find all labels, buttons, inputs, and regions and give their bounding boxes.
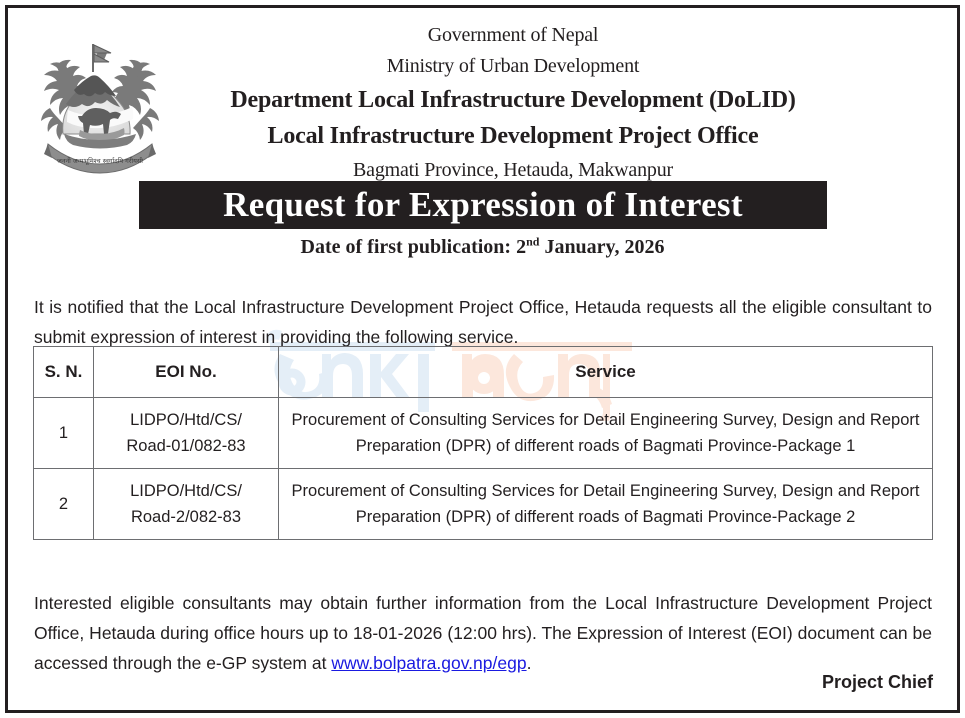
table-row: 2 LIDPO/Htd/CS/ Road-2/082-83 Procuremen…: [34, 469, 933, 540]
document-page: जननी जन्मभूमिश्च स्वर्गादपि गरीयसी Gover…: [0, 0, 965, 718]
cell-eoi-no-line1: LIDPO/Htd/CS/: [100, 407, 272, 433]
column-header-service: Service: [279, 347, 933, 398]
cell-sn: 1: [34, 398, 94, 469]
publication-date-label: Date of first publication:: [301, 236, 512, 258]
publication-date-ordinal: nd: [526, 234, 539, 248]
header-line-government: Government of Nepal: [158, 20, 868, 50]
column-header-eoi-no: EOI No.: [94, 347, 279, 398]
header-line-office: Local Infrastructure Development Project…: [158, 118, 868, 154]
publication-date-day: 2: [516, 236, 526, 258]
closing-paragraph-period: .: [527, 653, 532, 673]
cell-eoi-no-line1: LIDPO/Htd/CS/: [100, 478, 272, 504]
signatory-title: Project Chief: [822, 672, 933, 693]
document-content: जननी जन्मभूमिश्च स्वर्गादपि गरीयसी Gover…: [8, 8, 957, 710]
cell-service: Procurement of Consulting Services for D…: [279, 469, 933, 540]
publication-date-month-year: January, 2026: [544, 236, 664, 258]
header-line-ministry: Ministry of Urban Development: [158, 50, 868, 82]
eoi-table: S. N. EOI No. Service 1 LIDPO/Htd/CS/ Ro…: [33, 346, 933, 540]
closing-paragraph: Interested eligible consultants may obta…: [34, 588, 932, 678]
cell-eoi-no: LIDPO/Htd/CS/ Road-2/082-83: [94, 469, 279, 540]
nepal-emblem-icon: जननी जन्मभूमिश्च स्वर्गादपि गरीयसी: [30, 34, 170, 179]
table-row: 1 LIDPO/Htd/CS/ Road-01/082-83 Procureme…: [34, 398, 933, 469]
cell-eoi-no-line2: Road-2/082-83: [100, 504, 272, 530]
svg-text:जननी जन्मभूमिश्च स्वर्गादपि गर: जननी जन्मभूमिश्च स्वर्गादपि गरीयसी: [57, 157, 143, 165]
letterhead: Government of Nepal Ministry of Urban De…: [158, 20, 868, 187]
publication-date: Date of first publication: 2nd January, …: [8, 236, 957, 259]
cell-service: Procurement of Consulting Services for D…: [279, 398, 933, 469]
title-banner: Request for Expression of Interest: [139, 181, 827, 229]
table-header-row: S. N. EOI No. Service: [34, 347, 933, 398]
cell-sn: 2: [34, 469, 94, 540]
page-title: Request for Expression of Interest: [223, 185, 743, 225]
intro-paragraph: It is notified that the Local Infrastruc…: [34, 292, 932, 352]
header-line-department: Department Local Infrastructure Developm…: [158, 82, 868, 118]
egp-portal-link[interactable]: www.bolpatra.gov.np/egp: [331, 653, 526, 673]
cell-eoi-no: LIDPO/Htd/CS/ Road-01/082-83: [94, 398, 279, 469]
cell-eoi-no-line2: Road-01/082-83: [100, 433, 272, 459]
column-header-sn: S. N.: [34, 347, 94, 398]
